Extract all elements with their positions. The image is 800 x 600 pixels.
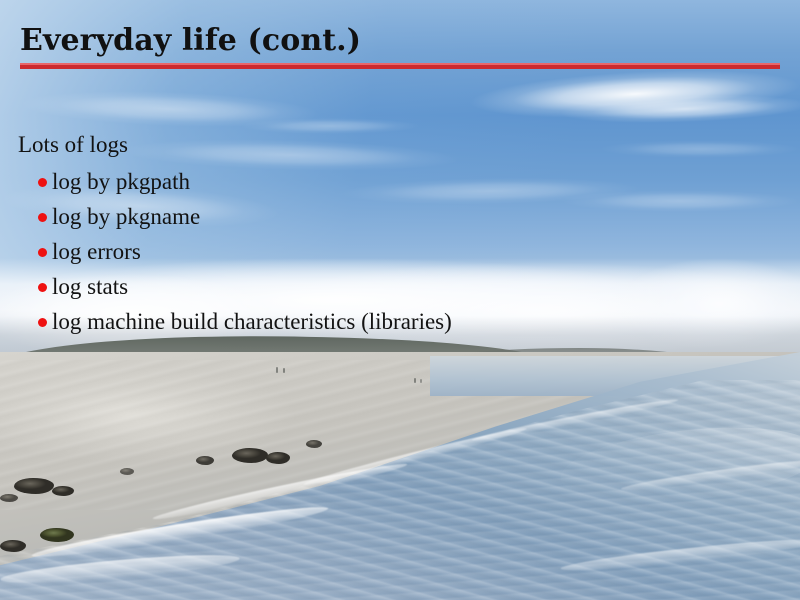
slide-title: Everyday life (cont.) [20, 22, 361, 60]
list-item-label: log by pkgpath [52, 169, 190, 194]
list-item: log stats [18, 269, 778, 304]
distant-person [276, 367, 278, 373]
list-item-label: log errors [52, 239, 141, 264]
rule-body [20, 65, 780, 69]
shore-rock [196, 456, 214, 465]
shore-rock [14, 478, 54, 494]
list-item: log by pkgpath [18, 164, 778, 199]
lead-line: Lots of logs [18, 128, 778, 161]
list-item: log errors [18, 234, 778, 269]
bullet-dot-icon [38, 213, 47, 222]
shore-rock [52, 486, 74, 496]
shore-rock [0, 494, 18, 502]
list-item: log machine build characteristics (libra… [18, 304, 778, 339]
shore-kelp [40, 528, 74, 542]
list-item-label: log machine build characteristics (libra… [52, 309, 452, 334]
bullet-dot-icon [38, 318, 47, 327]
slide-body: Lots of logs log by pkgpath log by pkgna… [18, 128, 778, 339]
slide: Everyday life (cont.) Lots of logs log b… [0, 0, 800, 600]
shore-rock [120, 468, 134, 475]
bullet-list: log by pkgpath log by pkgname log errors… [18, 164, 778, 339]
bullet-dot-icon [38, 248, 47, 257]
distant-person [420, 379, 422, 383]
shore-rock [266, 452, 290, 464]
list-item: log by pkgname [18, 199, 778, 234]
distant-person [414, 378, 416, 383]
bullet-dot-icon [38, 283, 47, 292]
list-item-label: log by pkgname [52, 204, 200, 229]
shore-rock [232, 448, 268, 463]
shore-rock [0, 540, 26, 552]
bullet-dot-icon [38, 178, 47, 187]
distant-person [283, 368, 285, 373]
title-underline-rule [20, 63, 780, 69]
shore-rock [306, 440, 322, 448]
list-item-label: log stats [52, 274, 128, 299]
